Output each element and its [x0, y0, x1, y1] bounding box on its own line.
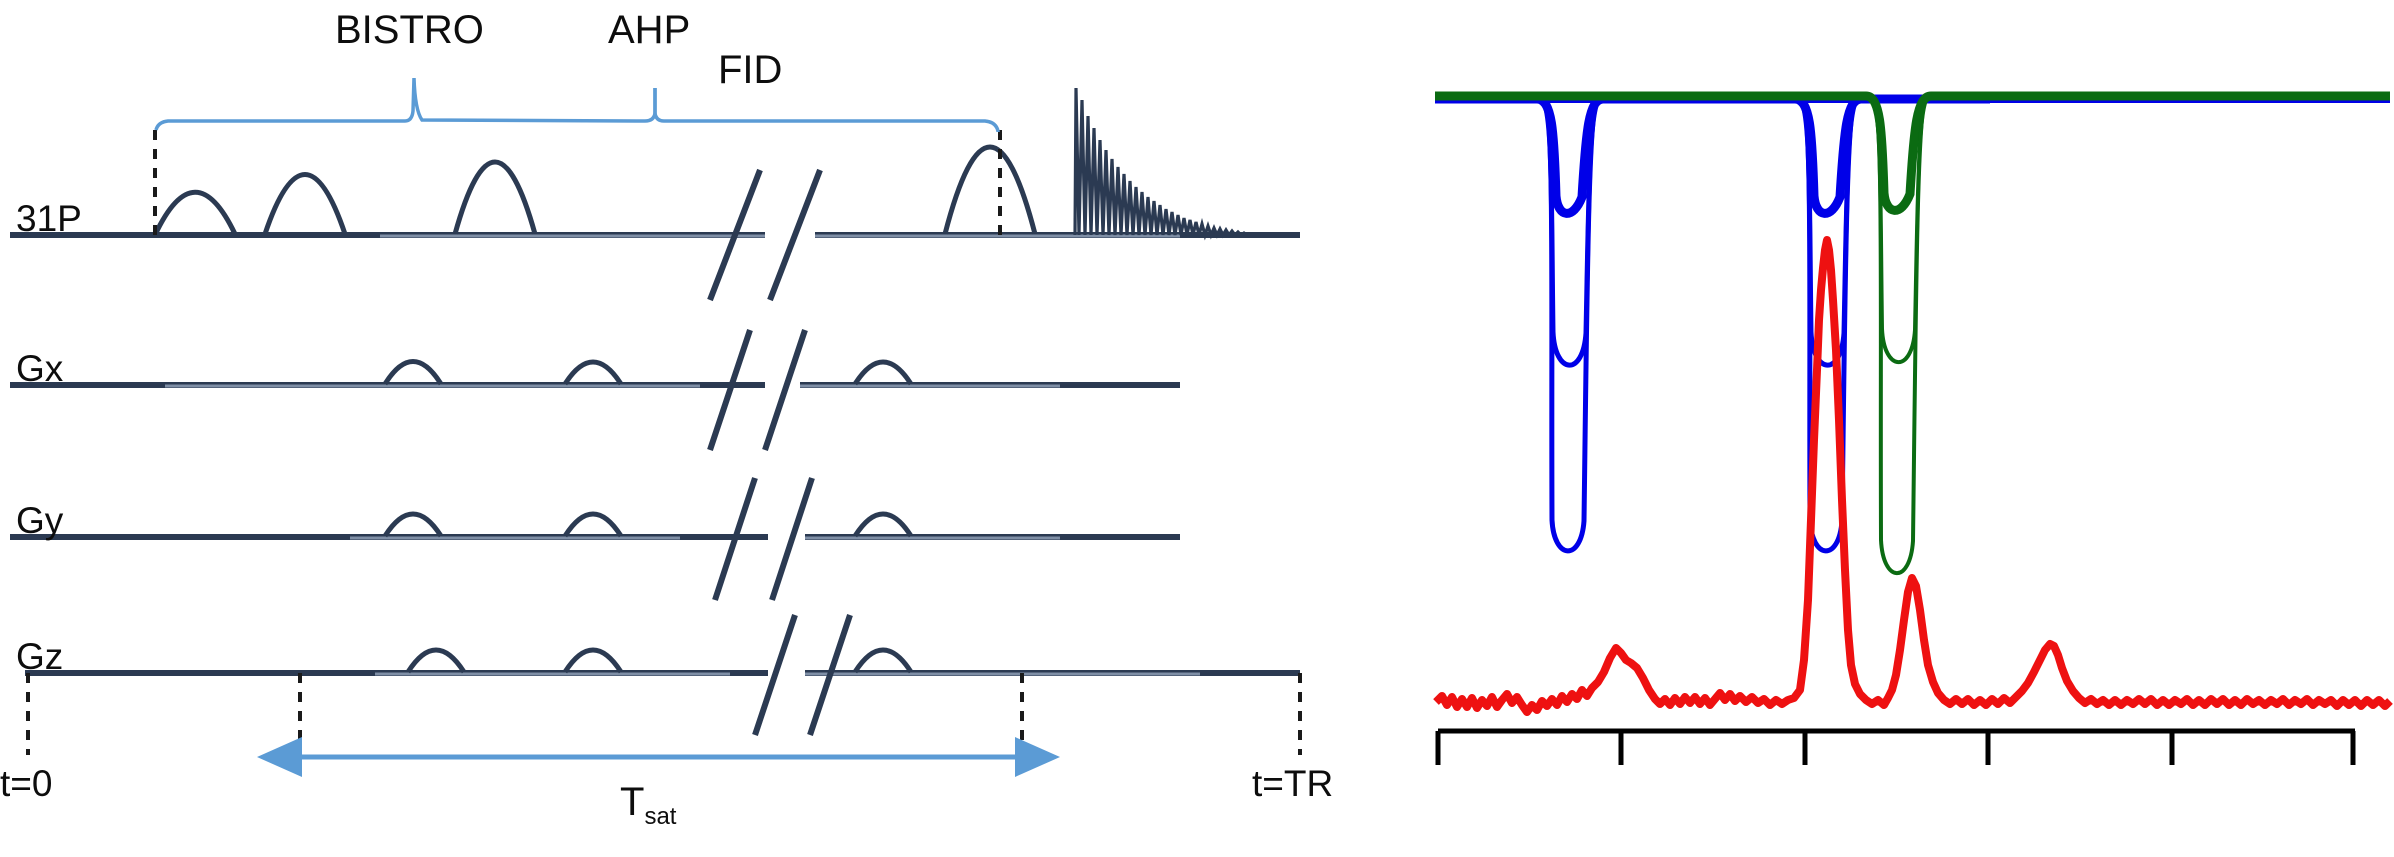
time-label-tsat: Tsat — [620, 780, 676, 831]
grad-gy-lobe-1 — [385, 514, 441, 536]
pulse-sequence-svg — [0, 0, 1390, 837]
channel-gx-trace — [10, 330, 1180, 450]
channel-label-gy: Gy — [16, 500, 63, 542]
tsat-main: T — [620, 780, 644, 824]
grad-gx-lobe-2 — [565, 362, 621, 384]
grad-gz-lobe-3 — [855, 650, 911, 672]
grad-gx-lobe-1 — [385, 362, 441, 385]
grad-gy-lobe-2 — [565, 514, 621, 536]
time-label-end: t=TR — [1252, 763, 1333, 805]
time-label-start: t=0 — [0, 763, 52, 805]
annotation-fid: FID — [718, 48, 782, 93]
rf-pulse-sat-1 — [155, 192, 235, 235]
channel-label-gz: Gz — [16, 636, 63, 678]
channel-label-31p: 31P — [16, 198, 82, 240]
timing-markers — [28, 673, 1300, 757]
bistro-bracket — [156, 78, 998, 132]
figure-root: 31P Gx Gy Gz BISTRO AHP FID t=0 t=TR Tsa… — [0, 0, 2394, 837]
annotation-ahp: AHP — [608, 8, 690, 53]
tsat-subscript: sat — [644, 803, 676, 830]
channel-label-gx: Gx — [16, 348, 63, 390]
fid-signal — [1075, 88, 1247, 235]
channel-gz-trace — [25, 615, 1300, 735]
grad-gy-lobe-3 — [855, 514, 911, 536]
rf-pulse-sat-3 — [455, 162, 535, 234]
spectrum-panel: Pi PCr γATP 10 5 0 -5 -10 -15 ppm — [1390, 0, 2394, 837]
ppm-axis — [1438, 731, 2355, 765]
spectrum-svg — [1390, 0, 2394, 837]
grad-gz-lobe-2 — [565, 650, 621, 672]
grad-gx-lobe-3 — [855, 362, 911, 384]
saturation-profile-gatp — [1435, 96, 2390, 573]
annotation-bistro: BISTRO — [335, 8, 484, 53]
grad-gz-lobe-1 — [408, 650, 464, 672]
rf-pulse-sat-2 — [265, 175, 345, 235]
channel-gy-trace — [10, 478, 1180, 600]
rf-pulse-ahp — [945, 147, 1035, 234]
pulse-sequence-panel: 31P Gx Gy Gz BISTRO AHP FID t=0 t=TR Tsa… — [0, 0, 1390, 837]
saturation-profile-pi — [1435, 99, 1795, 551]
